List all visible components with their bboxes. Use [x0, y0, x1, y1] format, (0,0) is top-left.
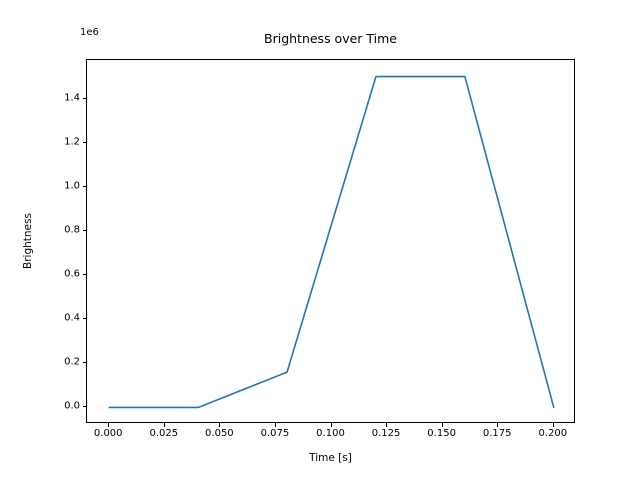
y-tick-label: 1.4	[64, 92, 80, 103]
chart-title: Brightness over Time	[86, 31, 575, 46]
x-tick-label: 0.125	[372, 428, 401, 439]
y-tick-mark	[83, 186, 87, 187]
x-tick-mark	[108, 423, 109, 427]
x-tick-mark	[219, 423, 220, 427]
x-tick-mark	[386, 423, 387, 427]
x-tick-mark	[164, 423, 165, 427]
y-tick-mark	[83, 274, 87, 275]
x-tick-labels: 0.0000.0250.0500.0750.1000.1250.1500.175…	[86, 428, 575, 444]
y-tick-label: 1.0	[64, 180, 80, 191]
x-tick-label: 0.200	[538, 428, 567, 439]
y-tick-label: 0.2	[64, 357, 80, 368]
plot-area	[86, 59, 575, 423]
y-tick-label: 0.4	[64, 313, 80, 324]
x-tick-label: 0.000	[94, 428, 123, 439]
x-tick-label: 0.100	[316, 428, 345, 439]
x-tick-mark	[553, 423, 554, 427]
y-tick-mark	[83, 230, 87, 231]
y-tick-label: 0.6	[64, 269, 80, 280]
x-tick-mark	[497, 423, 498, 427]
y-tick-mark	[83, 362, 87, 363]
y-tick-label: 0.8	[64, 224, 80, 235]
y-tick-mark	[83, 142, 87, 143]
x-tick-label: 0.025	[149, 428, 178, 439]
figure-canvas: 1e6 Brightness over Time 0.00.20.40.60.8…	[0, 0, 640, 480]
brightness-series-line	[109, 77, 554, 408]
x-axis-label: Time [s]	[86, 452, 575, 464]
x-tick-mark	[331, 423, 332, 427]
y-tick-label: 0.0	[64, 401, 80, 412]
x-tick-mark	[442, 423, 443, 427]
x-tick-label: 0.175	[483, 428, 512, 439]
y-tick-label: 1.2	[64, 136, 80, 147]
data-line-svg	[87, 60, 576, 424]
x-tick-label: 0.075	[261, 428, 290, 439]
y-tick-mark	[83, 318, 87, 319]
x-tick-mark	[275, 423, 276, 427]
y-tick-mark	[83, 98, 87, 99]
x-tick-label: 0.050	[205, 428, 234, 439]
y-axis-label: Brightness	[22, 59, 42, 423]
y-tick-labels: 0.00.20.40.60.81.01.21.4	[40, 59, 80, 423]
x-tick-label: 0.150	[427, 428, 456, 439]
y-tick-mark	[83, 406, 87, 407]
